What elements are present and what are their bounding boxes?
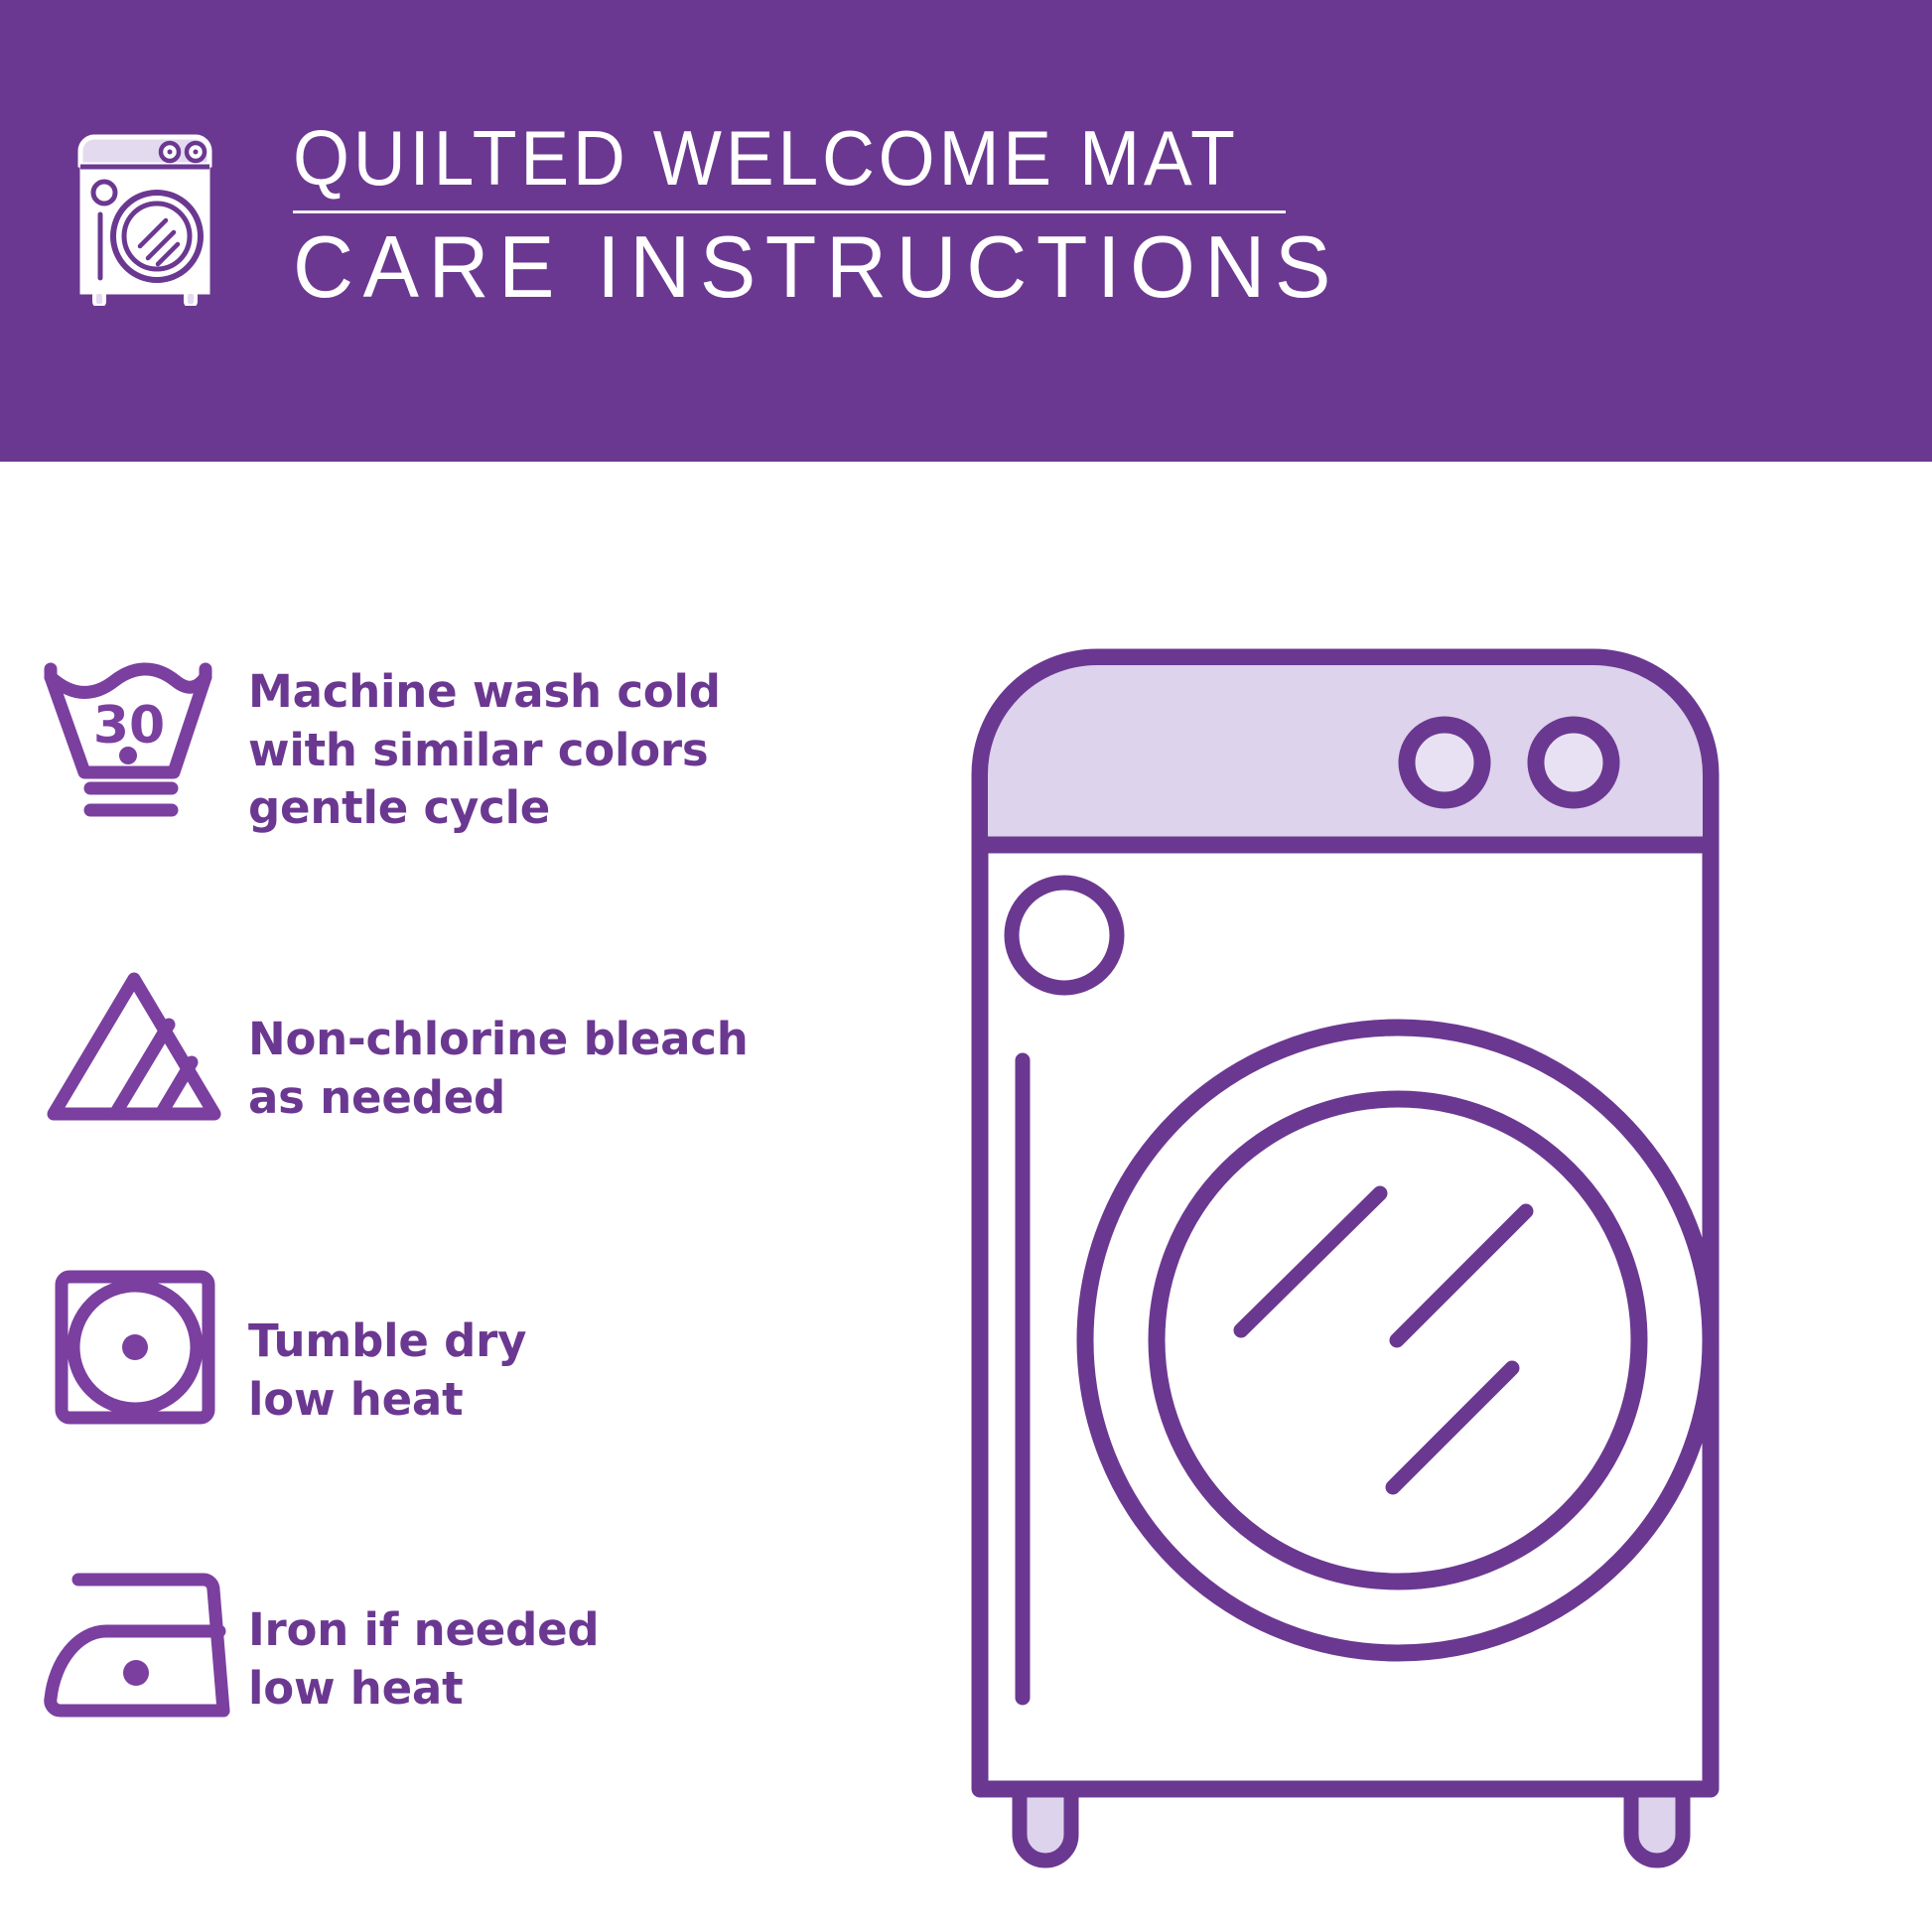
- care-label-line: as needed: [248, 1069, 749, 1128]
- care-item-iron: Iron if needed low heat: [0, 1544, 943, 1822]
- svg-text:30: 30: [93, 696, 165, 756]
- machine-wash-30-gentle-icon: 30: [0, 655, 248, 829]
- care-item-label: Tumble dry low heat: [248, 1251, 526, 1429]
- knob-left: [1407, 725, 1482, 800]
- page-subtitle: CARE INSTRUCTIONS: [293, 223, 1340, 311]
- washing-machine-icon: [74, 127, 233, 301]
- page-title: QUILTED WELCOME MAT: [293, 119, 1318, 197]
- care-label-line: Iron if needed: [248, 1601, 599, 1660]
- tumble-dry-low-heat-icon: [0, 1251, 248, 1432]
- care-item-label: Machine wash cold with similar colors ge…: [248, 655, 721, 838]
- washing-machine-illustration: [968, 645, 1723, 1896]
- care-label-line: low heat: [248, 1660, 599, 1719]
- iron-low-heat-icon: [0, 1544, 248, 1725]
- knob-right: [1536, 725, 1611, 800]
- care-instructions-list: 30 Machine wash cold with similar colors…: [0, 655, 943, 1822]
- title-divider: [293, 210, 1286, 213]
- care-item-machine-wash: 30 Machine wash cold with similar colors…: [0, 655, 943, 953]
- care-item-label: Iron if needed low heat: [248, 1544, 599, 1718]
- care-label-line: Machine wash cold: [248, 663, 721, 722]
- care-label-line: Non-chlorine bleach: [248, 1011, 749, 1069]
- header-banner: QUILTED WELCOME MAT CARE INSTRUCTIONS: [0, 0, 1932, 462]
- care-label-line: with similar colors: [248, 722, 721, 780]
- care-item-bleach: Non-chlorine bleach as needed: [0, 953, 943, 1251]
- care-item-label: Non-chlorine bleach as needed: [248, 953, 749, 1127]
- care-label-line: gentle cycle: [248, 779, 721, 838]
- header-titles: QUILTED WELCOME MAT CARE INSTRUCTIONS: [293, 119, 1384, 311]
- care-item-tumble-dry: Tumble dry low heat: [0, 1251, 943, 1544]
- non-chlorine-bleach-icon: [0, 953, 248, 1132]
- care-label-line: Tumble dry: [248, 1312, 526, 1371]
- care-label-line: low heat: [248, 1371, 526, 1430]
- header-content: QUILTED WELCOME MAT CARE INSTRUCTIONS: [74, 119, 1384, 311]
- detergent-dial: [1012, 883, 1117, 988]
